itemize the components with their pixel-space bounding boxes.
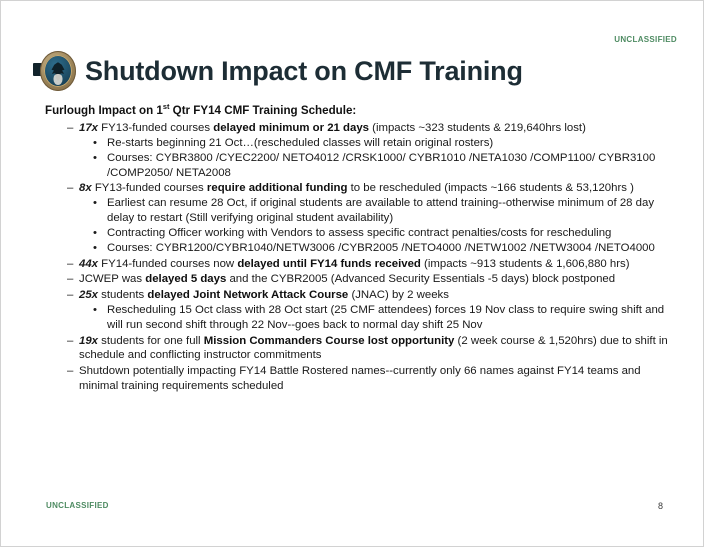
- dot-marker: •: [93, 241, 97, 256]
- classification-marking-bottom: UNCLASSIFIED: [46, 501, 109, 510]
- bullet-list-level-2: •Rescheduling 15 Oct class with 28 Oct s…: [79, 303, 681, 333]
- bullet-count-emphasis: 25x: [79, 289, 98, 301]
- bullet-text-pre: Shutdown potentially impacting FY14 Batt…: [79, 365, 641, 392]
- dash-marker: –: [67, 288, 76, 303]
- dash-marker: –: [67, 181, 76, 196]
- bullet-text-emphasis: require additional funding: [207, 182, 347, 194]
- bullet-text-pre: JCWEP was: [79, 273, 145, 285]
- sub-bullet-item: •Rescheduling 15 Oct class with 28 Oct s…: [79, 303, 681, 333]
- bullet-text: 17x FY13-funded courses delayed minimum …: [79, 121, 681, 136]
- dash-marker: –: [67, 334, 76, 349]
- bullet-text-post: (JNAC) by 2 weeks: [348, 289, 449, 301]
- bullet-text-post: (impacts ~913 students & 1,606,880 hrs): [421, 258, 630, 270]
- bullet-text-post: to be rescheduled (impacts ~166 students…: [347, 182, 634, 194]
- bullet-item: –Shutdown potentially impacting FY14 Bat…: [41, 364, 681, 394]
- sub-bullet-item: •Contracting Officer working with Vendor…: [79, 226, 681, 241]
- lead-post-text: Qtr FY14 CMF Training Schedule:: [169, 104, 356, 117]
- bullet-list-level-2: •Re-starts beginning 21 Oct…(rescheduled…: [79, 136, 681, 180]
- dash-marker: –: [67, 272, 76, 287]
- bullet-text-post: (impacts ~323 students & 219,640hrs lost…: [369, 122, 586, 134]
- sub-bullet-item: •Earliest can resume 28 Oct, if original…: [79, 196, 681, 226]
- bullet-text-emphasis: delayed minimum or 21 days: [213, 122, 369, 134]
- bullet-text-post: and the CYBR2005 (Advanced Security Esse…: [226, 273, 615, 285]
- bullet-item: –44x FY14-funded courses now delayed unt…: [41, 257, 681, 272]
- eagle-body-shape: [54, 74, 63, 85]
- sub-bullet-item: •Courses: CYBR3800 /CYEC2200/ NETO4012 /…: [79, 151, 681, 181]
- bullet-text: 44x FY14-funded courses now delayed unti…: [79, 257, 681, 272]
- bullet-item: –25x students delayed Joint Network Atta…: [41, 288, 681, 332]
- bullet-text-emphasis: delayed until FY14 funds received: [237, 258, 421, 270]
- bullet-text: JCWEP was delayed 5 days and the CYBR200…: [79, 272, 681, 287]
- sub-bullet-text: Earliest can resume 28 Oct, if original …: [107, 196, 681, 226]
- sub-bullet-item: •Re-starts beginning 21 Oct…(rescheduled…: [79, 136, 681, 151]
- bullet-count-emphasis: 17x: [79, 122, 98, 134]
- bullet-text-pre: FY13-funded courses: [92, 182, 207, 194]
- dot-marker: •: [93, 151, 97, 166]
- dash-marker: –: [67, 364, 76, 379]
- bullet-list-level-1: –17x FY13-funded courses delayed minimum…: [41, 121, 681, 394]
- bullet-text: 25x students delayed Joint Network Attac…: [79, 288, 681, 303]
- bullet-item: –17x FY13-funded courses delayed minimum…: [41, 121, 681, 180]
- dash-marker: –: [67, 257, 76, 272]
- page-number: 8: [658, 501, 663, 511]
- sub-bullet-text: Rescheduling 15 Oct class with 28 Oct st…: [107, 303, 681, 333]
- bullet-item: –19x students for one full Mission Comma…: [41, 334, 681, 364]
- bullet-item: –JCWEP was delayed 5 days and the CYBR20…: [41, 272, 681, 287]
- dot-marker: •: [93, 226, 97, 241]
- slide-title-row: Shutdown Impact on CMF Training: [33, 49, 679, 93]
- bullet-text-pre: students: [98, 289, 147, 301]
- dash-marker: –: [67, 121, 76, 136]
- body-lead-heading: Furlough Impact on 1st Qtr FY14 CMF Trai…: [41, 103, 681, 118]
- bullet-text-pre: FY13-funded courses: [98, 122, 213, 134]
- dot-marker: •: [93, 196, 97, 211]
- bullet-count-emphasis: 44x: [79, 258, 98, 270]
- dot-marker: •: [93, 303, 97, 318]
- sub-bullet-text: Re-starts beginning 21 Oct…(rescheduled …: [107, 136, 681, 151]
- lead-pre-text: Furlough Impact on 1: [45, 104, 163, 117]
- bullet-text-pre: students for one full: [98, 335, 204, 347]
- classification-marking-top: UNCLASSIFIED: [614, 35, 677, 44]
- dod-cyber-eagle-seal-icon: [33, 50, 77, 92]
- bullet-text-emphasis: delayed 5 days: [145, 273, 226, 285]
- bullet-item: –8x FY13-funded courses require addition…: [41, 181, 681, 255]
- bullet-text: 19x students for one full Mission Comman…: [79, 334, 681, 364]
- sub-bullet-text: Contracting Officer working with Vendors…: [107, 226, 681, 241]
- bullet-count-emphasis: 19x: [79, 335, 98, 347]
- sub-bullet-item: •Courses: CYBR1200/CYBR1040/NETW3006 /CY…: [79, 241, 681, 256]
- sub-bullet-text: Courses: CYBR1200/CYBR1040/NETW3006 /CYB…: [107, 241, 681, 256]
- slide: UNCLASSIFIED Shutdown Impact on CMF Trai…: [0, 0, 704, 547]
- page-title: Shutdown Impact on CMF Training: [85, 58, 523, 85]
- bullet-count-emphasis: 8x: [79, 182, 92, 194]
- bullet-text-emphasis: Mission Commanders Course lost opportuni…: [204, 335, 455, 347]
- bullet-text-pre: FY14-funded courses now: [98, 258, 237, 270]
- dot-marker: •: [93, 136, 97, 151]
- sub-bullet-text: Courses: CYBR3800 /CYEC2200/ NETO4012 /C…: [107, 151, 681, 181]
- bullet-list-level-2: •Earliest can resume 28 Oct, if original…: [79, 196, 681, 255]
- slide-body: Furlough Impact on 1st Qtr FY14 CMF Trai…: [41, 103, 681, 395]
- bullet-text: Shutdown potentially impacting FY14 Batt…: [79, 364, 681, 394]
- bullet-text: 8x FY13-funded courses require additiona…: [79, 181, 681, 196]
- bullet-text-emphasis: delayed Joint Network Attack Course: [147, 289, 348, 301]
- seal-inner-ring: [44, 55, 72, 87]
